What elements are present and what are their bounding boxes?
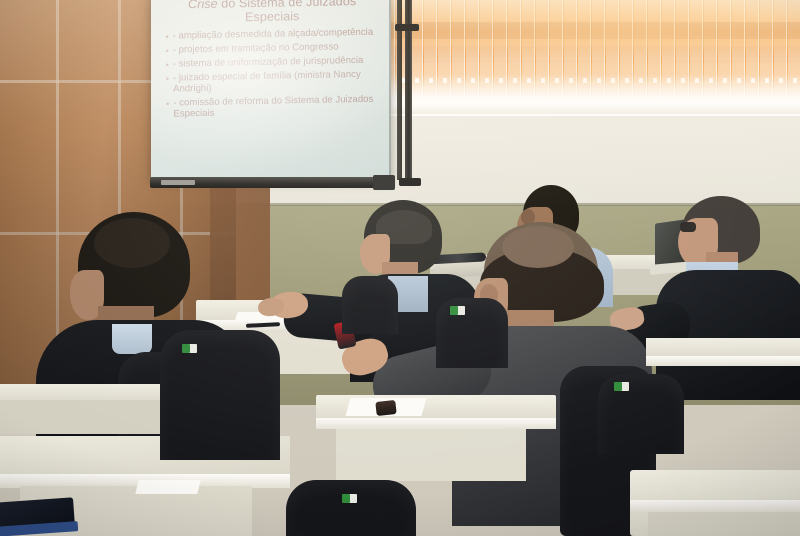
desk-foreground-right-lip (630, 500, 800, 512)
chair-mid-left (342, 276, 398, 334)
glasses-hint-icon (680, 222, 696, 232)
chair-foreground-left (160, 330, 280, 460)
desk-front-center-lip (316, 418, 556, 429)
attendee-right (660, 196, 800, 396)
projection-screen-assembly: Crise do Sistema de Juizados Especiais •… (151, 0, 391, 190)
screen-bar-endcap (373, 175, 395, 190)
shirt-collar (112, 324, 152, 354)
screen-bar-label (161, 180, 195, 185)
bald-highlight (502, 226, 574, 268)
mobile-phone-on-desk (375, 400, 396, 416)
papers-foreground-left (135, 480, 200, 494)
chair-right-back (598, 374, 684, 454)
desk-front-center-panel (336, 429, 526, 481)
screen-edge (151, 0, 391, 180)
screen-pole-joint (395, 24, 419, 31)
hair-highlight (94, 218, 170, 268)
chair-front-center (286, 480, 416, 536)
screen-pole-foot (399, 178, 421, 186)
desk-right-mid-lip (646, 356, 800, 366)
chair-mid-back (436, 298, 508, 368)
desk-foreground-right-panel (648, 512, 800, 536)
photo-scene: /*slats injected*/ Crise do Sistema de J… (0, 0, 800, 536)
